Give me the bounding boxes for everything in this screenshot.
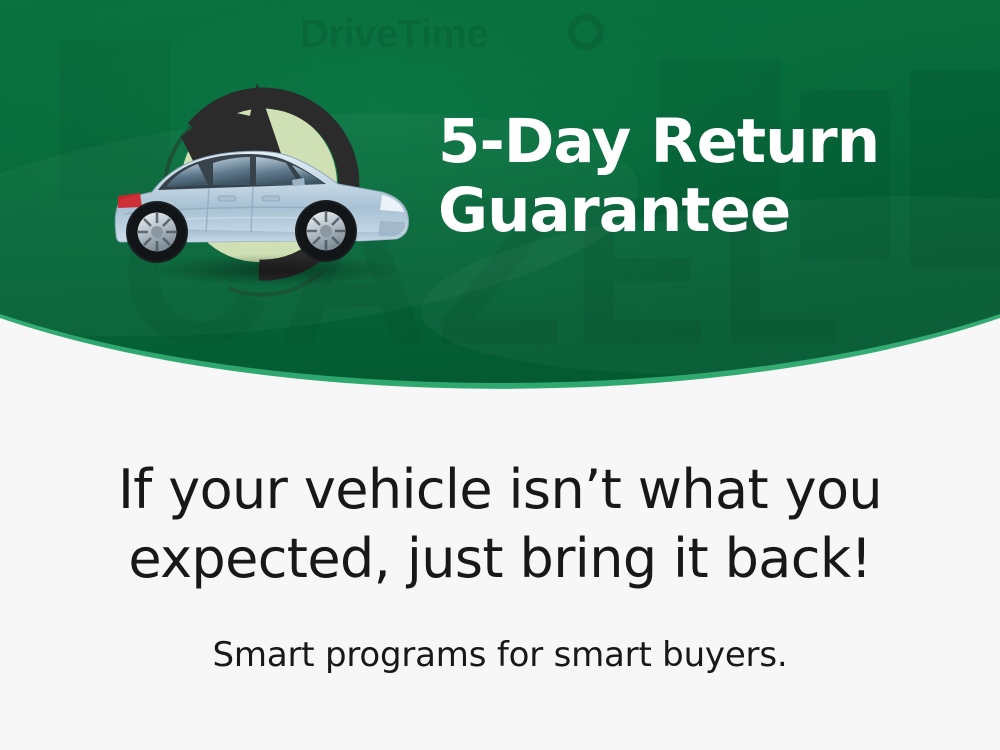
copy-main: If your vehicle isn’t what you expected,…: [0, 455, 1000, 593]
copy-main-line-1: If your vehicle isn’t what you: [0, 455, 1000, 524]
headline-line-2: Guarantee: [438, 177, 958, 246]
car-shadow: [148, 254, 400, 286]
copy-block: If your vehicle isn’t what you expected,…: [0, 455, 1000, 675]
return-arrow-with-car-graphic: [96, 56, 436, 306]
copy-sub: Smart programs for smart buyers.: [0, 635, 1000, 675]
promo-banner: CAZEL DriveTime: [0, 0, 1000, 750]
taillight: [118, 193, 142, 208]
headline-line-1: 5-Day Return: [438, 108, 958, 177]
copy-main-line-2: expected, just bring it back!: [0, 524, 1000, 593]
headline: 5-Day Return Guarantee: [438, 108, 958, 246]
